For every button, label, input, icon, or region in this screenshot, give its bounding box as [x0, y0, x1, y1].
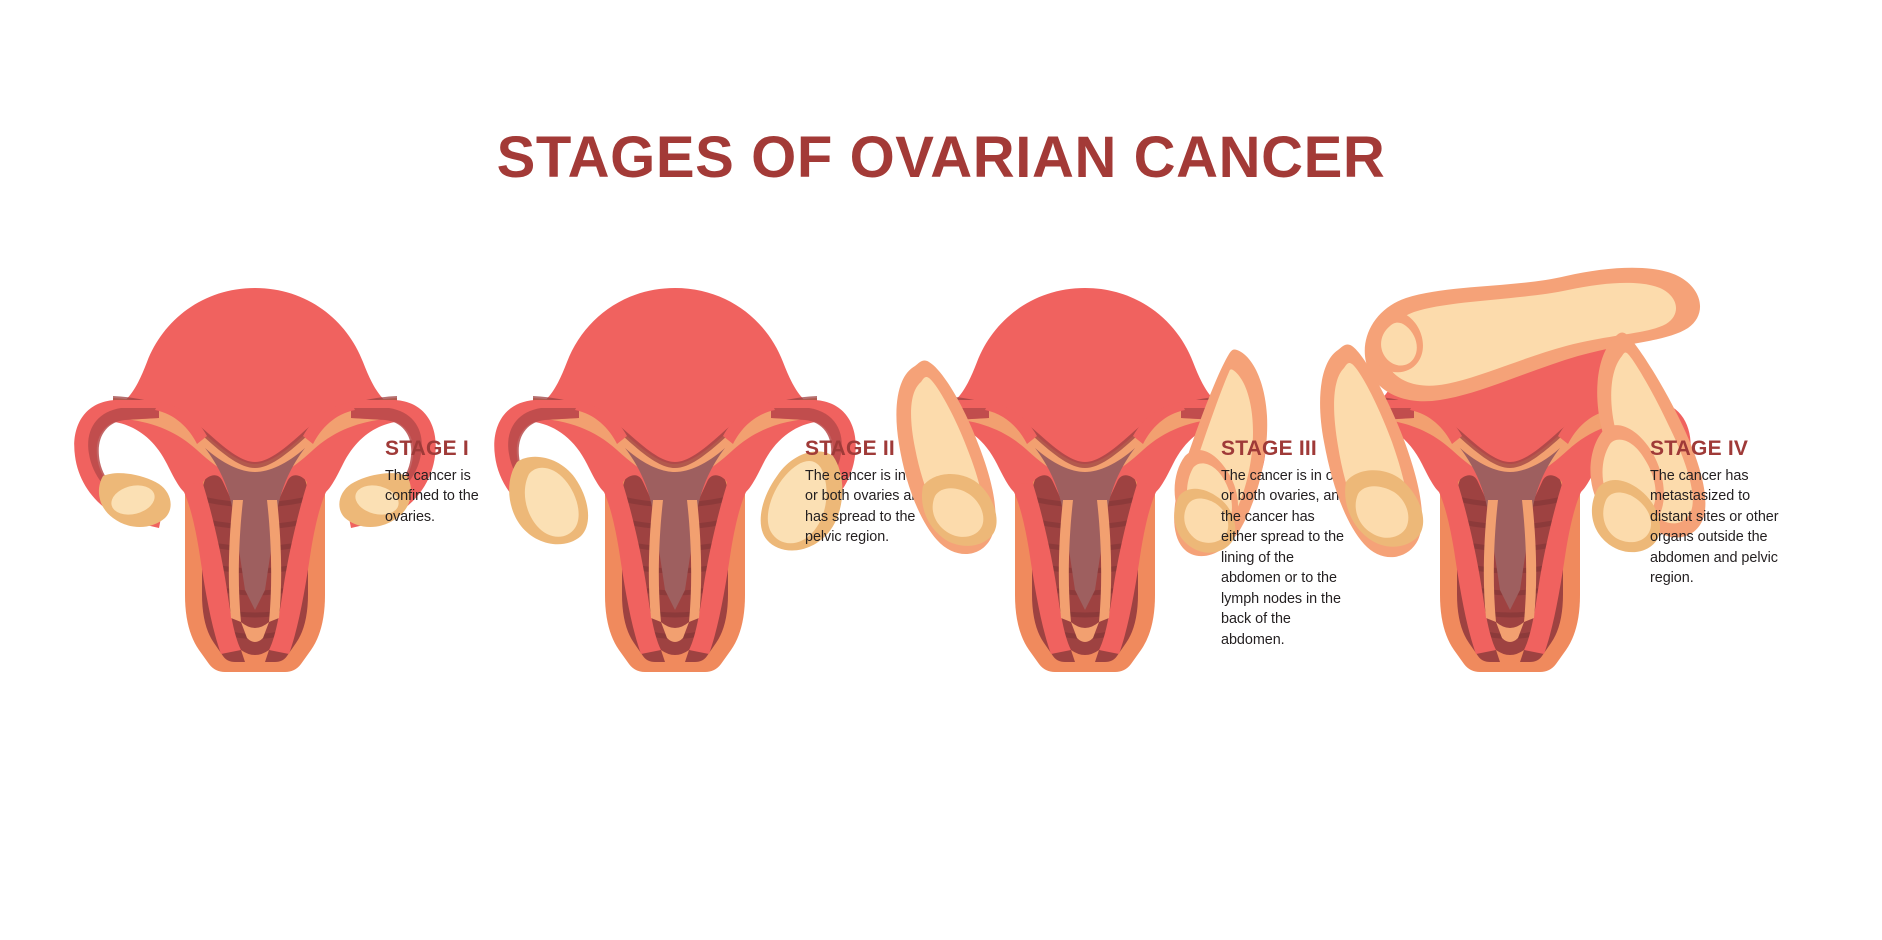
stage-panel-4: STAGE IV The cancer has metastasized to … — [1310, 250, 1750, 720]
stage-caption-4: STAGE IV The cancer has metastasized to … — [1650, 438, 1782, 589]
stage-panel-3: STAGE III The cancer is in one or both o… — [885, 250, 1325, 720]
stage-description-4: The cancer has metastasized to distant s… — [1650, 466, 1782, 589]
stage-panels-row: STAGE I The cancer is confined to the ov… — [0, 250, 1882, 720]
stage-panel-1: STAGE I The cancer is confined to the ov… — [55, 250, 495, 720]
infographic-canvas: STAGES OF OVARIAN CANCER — [0, 0, 1882, 940]
stage-heading-4: STAGE IV — [1650, 438, 1782, 459]
stage-panel-2: STAGE II The cancer is in one or both ov… — [475, 250, 915, 720]
page-title: STAGES OF OVARIAN CANCER — [0, 128, 1882, 189]
